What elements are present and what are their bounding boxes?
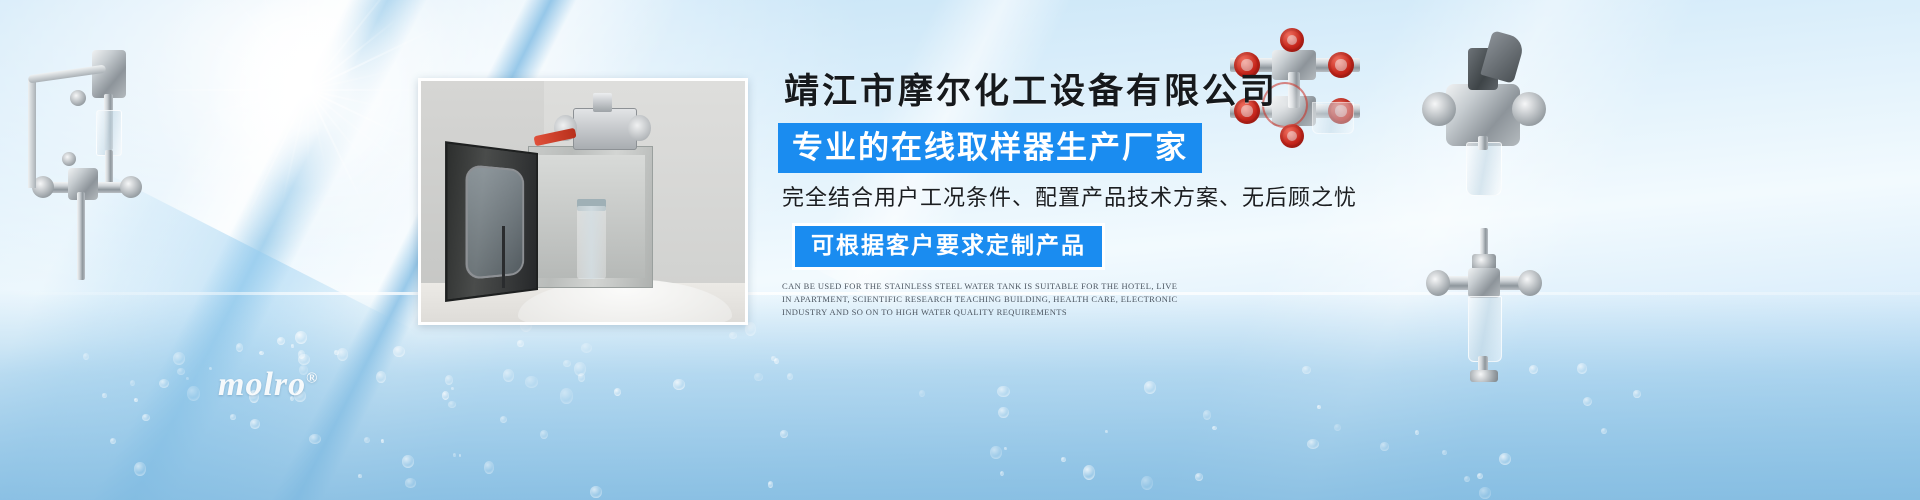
water-droplet (990, 446, 1002, 459)
water-droplet (517, 340, 524, 347)
water-droplet (337, 348, 348, 361)
water-droplet (1479, 487, 1491, 499)
water-droplet (448, 401, 456, 408)
water-droplet (393, 346, 405, 357)
water-droplet (177, 368, 185, 375)
water-droplet (673, 379, 685, 390)
water-droplet (376, 371, 386, 383)
company-name: 靖江市摩尔化工设备有限公司 (784, 72, 1418, 112)
water-droplet (259, 351, 264, 355)
water-droplet (484, 461, 494, 474)
water-droplet (998, 407, 1009, 418)
water-droplet (142, 414, 150, 421)
water-droplet (768, 481, 773, 488)
water-droplet (729, 332, 737, 339)
water-droplet (130, 380, 135, 386)
water-droplet (540, 430, 548, 439)
water-droplet (1633, 390, 1641, 398)
sampler-assembly-left (8, 24, 158, 314)
water-droplet (590, 486, 602, 498)
water-droplet (442, 391, 449, 400)
sun-ray (149, 89, 308, 91)
water-droplet (250, 419, 260, 429)
promo-banner: 靖江市摩尔化工设备有限公司 专业的在线取样器生产厂家 完全结合用户工况条件、配置… (0, 0, 1920, 500)
water-droplet (780, 430, 788, 438)
water-droplet (230, 414, 236, 420)
water-droplet (102, 393, 107, 398)
water-droplet (787, 373, 793, 380)
water-droplet (1061, 457, 1066, 462)
water-droplet (358, 474, 362, 478)
water-droplet (1380, 442, 1389, 451)
sun-ray (307, 90, 309, 170)
water-droplet (402, 455, 414, 468)
water-droplet (1144, 381, 1156, 394)
brand-watermark-text: molro (218, 366, 306, 403)
water-droplet (1195, 473, 1203, 481)
water-droplet (1442, 450, 1447, 455)
water-droplet (381, 439, 384, 443)
headline-badge: 专业的在线取样器生产厂家 (778, 123, 1202, 173)
custom-product-cta[interactable]: 可根据客户要求定制产品 (792, 223, 1105, 270)
water-droplet (500, 416, 507, 423)
water-droplet (445, 375, 453, 385)
water-droplet (1415, 430, 1419, 435)
water-droplet (563, 360, 571, 367)
water-droplet (291, 344, 294, 348)
water-droplet (298, 354, 310, 365)
registered-trademark-icon: ® (306, 371, 318, 387)
water-droplet (334, 350, 339, 355)
water-droplet (1302, 366, 1311, 374)
subheadline-text: 完全结合用户工况条件、配置产品技术方案、无后顾之忧 (782, 185, 1418, 211)
water-droplet (525, 376, 538, 388)
water-droplet (1141, 476, 1153, 490)
water-droplet (187, 386, 200, 401)
water-droplet (574, 362, 586, 376)
water-droplet (309, 434, 321, 444)
water-droplet (159, 379, 169, 388)
brand-watermark: molro® (218, 366, 318, 404)
water-droplet (1105, 430, 1108, 433)
english-fineprint: CAN BE USED FOR THE STAINLESS STEEL WATE… (782, 280, 1187, 320)
water-droplet (560, 388, 573, 404)
water-droplet (236, 343, 243, 352)
water-droplet (209, 367, 212, 370)
water-droplet (173, 352, 185, 365)
water-droplet (614, 388, 621, 396)
water-droplet (134, 398, 138, 402)
online-sampler-cabinet-photo (418, 78, 748, 325)
water-droplet (1577, 363, 1587, 374)
sight-glass-sampler-bottom-right (1420, 228, 1550, 388)
flanged-valve-body-right (1420, 30, 1550, 220)
water-droplet (1203, 410, 1211, 420)
water-droplet (405, 478, 416, 488)
water-droplet (1083, 465, 1095, 480)
sun-ray (307, 0, 309, 90)
marketing-text-block: 靖江市摩尔化工设备有限公司 专业的在线取样器生产厂家 完全结合用户工况条件、配置… (778, 72, 1418, 319)
water-droplet (503, 369, 514, 382)
water-droplet (1004, 447, 1007, 450)
water-droplet (453, 453, 456, 457)
